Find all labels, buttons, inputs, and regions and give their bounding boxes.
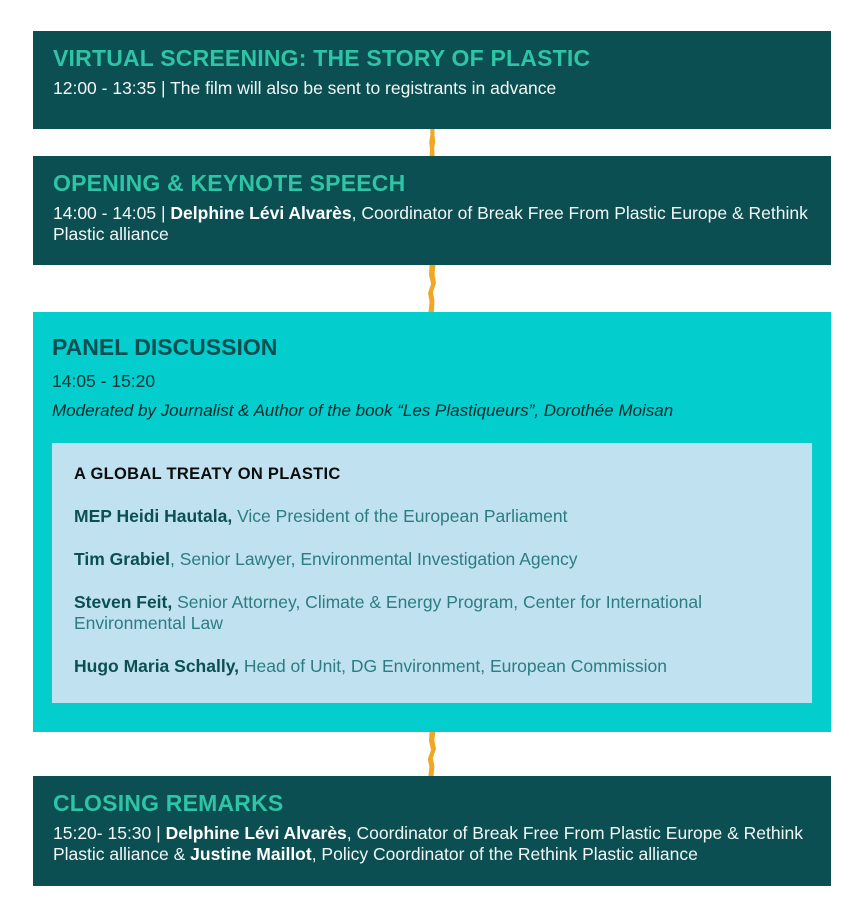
speaker-list-item: Steven Feit, Senior Attorney, Climate & …: [74, 592, 790, 634]
speaker-name: MEP Heidi Hautala,: [74, 506, 232, 526]
arrow-down-connector-icon: [423, 732, 441, 776]
speaker-name-secondary: Justine Maillot: [190, 844, 312, 864]
speaker-name: Delphine Lévi Alvarès: [170, 203, 351, 223]
session-description: The film will also be sent to registrant…: [170, 78, 556, 98]
session-block-panel-discussion: PANEL DISCUSSION 14:05 - 15:20 Moderated…: [33, 312, 831, 732]
speaker-list-item: MEP Heidi Hautala, Vice President of the…: [74, 506, 790, 527]
session-time: 15:20- 15:30: [53, 823, 151, 843]
speaker-list-item: Tim Grabiel, Senior Lawyer, Environmenta…: [74, 549, 790, 570]
session-separator: |: [156, 203, 170, 223]
session-block-virtual-screening: VIRTUAL SCREENING: THE STORY OF PLASTIC …: [33, 31, 831, 129]
panel-speakers-container: A GLOBAL TREATY ON PLASTIC MEP Heidi Hau…: [52, 443, 812, 703]
panel-topic-heading: A GLOBAL TREATY ON PLASTIC: [74, 465, 790, 484]
session-title-virtual-screening: VIRTUAL SCREENING: THE STORY OF PLASTIC: [53, 45, 811, 72]
speaker-role: , Senior Lawyer, Environmental Investiga…: [170, 549, 578, 569]
session-detail-opening-keynote: 14:00 - 14:05 | Delphine Lévi Alvarès, C…: [53, 203, 811, 245]
speaker-role: Vice President of the European Parliamen…: [232, 506, 567, 526]
session-detail-virtual-screening: 12:00 - 13:35 | The film will also be se…: [53, 78, 811, 99]
speaker-name: Steven Feit,: [74, 592, 172, 612]
session-time: 14:00 - 14:05: [53, 203, 156, 223]
session-title-opening-keynote: OPENING & KEYNOTE SPEECH: [53, 170, 811, 197]
connector-screening-to-opening: [33, 129, 831, 156]
speaker-name: Hugo Maria Schally,: [74, 656, 239, 676]
speaker-role: Head of Unit, DG Environment, European C…: [239, 656, 667, 676]
session-title-panel-discussion: PANEL DISCUSSION: [52, 334, 812, 361]
session-time: 12:00 - 13:35: [53, 78, 156, 98]
speaker-list-item: Hugo Maria Schally, Head of Unit, DG Env…: [74, 656, 790, 677]
session-block-closing-remarks: CLOSING REMARKS 15:20- 15:30 | Delphine …: [33, 776, 831, 886]
speaker-name: Tim Grabiel: [74, 549, 170, 569]
session-detail-closing-remarks: 15:20- 15:30 | Delphine Lévi Alvarès, Co…: [53, 823, 811, 865]
arrow-down-connector-icon: [424, 129, 440, 156]
connector-opening-to-panel: [33, 265, 831, 312]
panel-moderator: Moderated by Journalist & Author of the …: [52, 400, 812, 421]
session-separator: |: [151, 823, 165, 843]
session-separator: |: [156, 78, 170, 98]
speaker-name-primary: Delphine Lévi Alvarès: [166, 823, 347, 843]
speaker-role-secondary: , Policy Coordinator of the Rethink Plas…: [312, 844, 698, 864]
connector-panel-to-closing: [33, 732, 831, 776]
session-title-closing-remarks: CLOSING REMARKS: [53, 790, 811, 817]
session-block-opening-keynote: OPENING & KEYNOTE SPEECH 14:00 - 14:05 |…: [33, 156, 831, 265]
arrow-down-connector-icon: [423, 265, 441, 312]
panel-time: 14:05 - 15:20: [52, 371, 812, 393]
event-agenda: VIRTUAL SCREENING: THE STORY OF PLASTIC …: [33, 31, 831, 886]
